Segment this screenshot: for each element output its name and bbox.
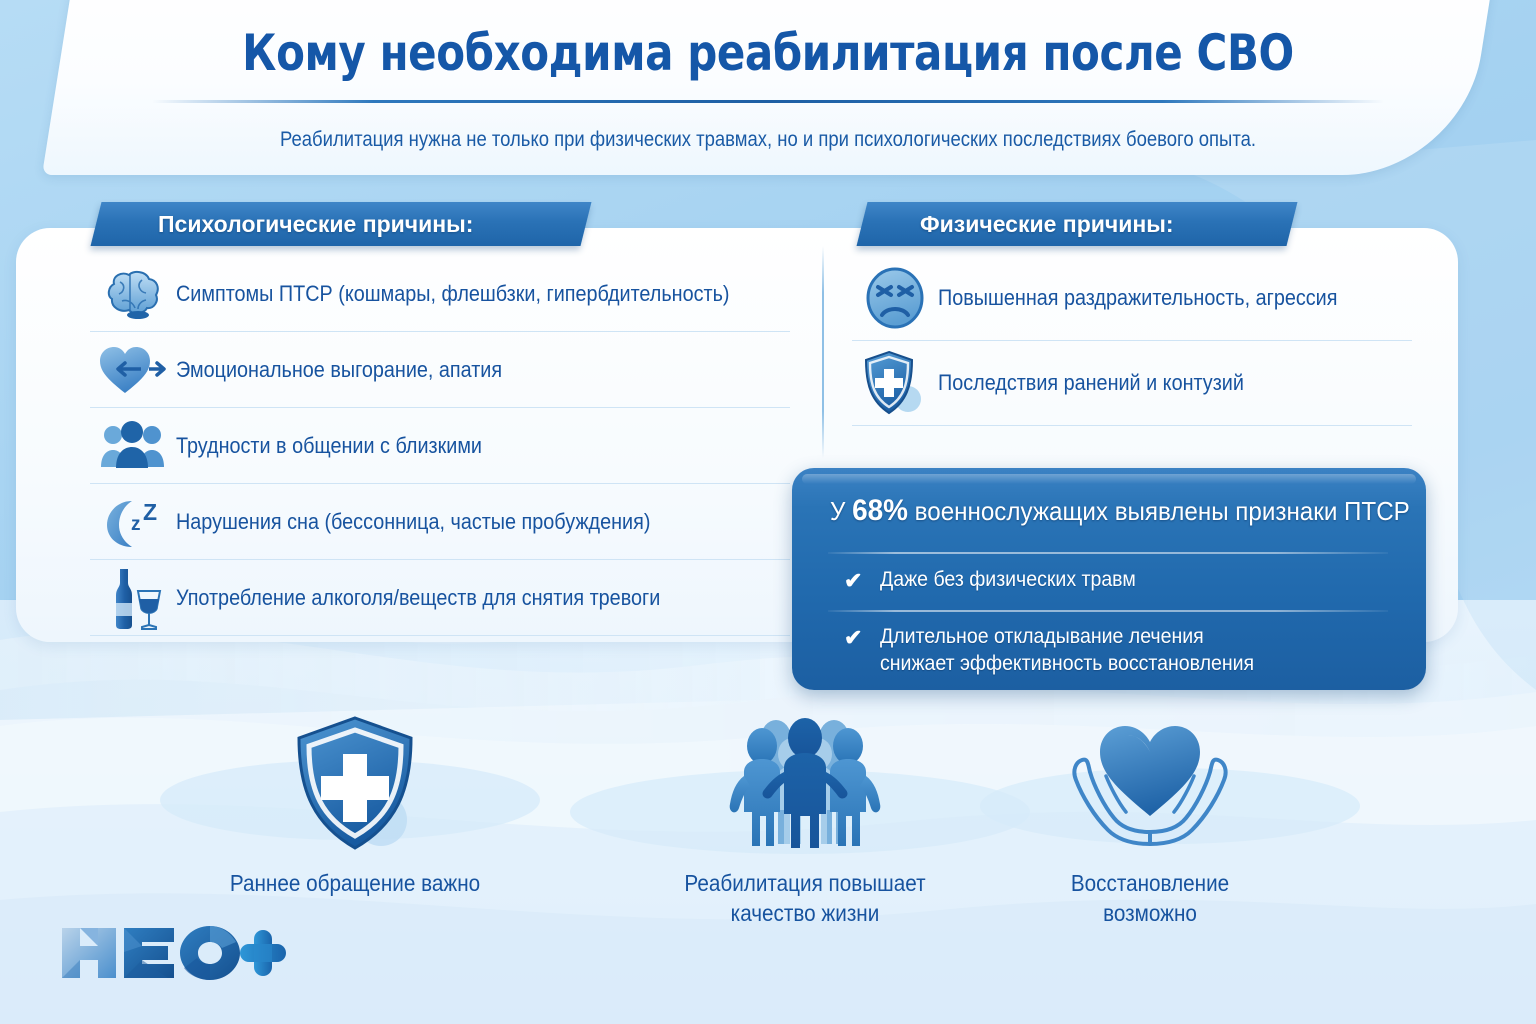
header-content: Кому необходима реабилитация после СВО Р… (0, 0, 1536, 180)
heart-burnout-icon (90, 338, 176, 402)
hands-heart-icon (985, 712, 1315, 852)
list-item: Эмоциональное выгорание, апатия (90, 332, 790, 408)
statistics-prefix: У (830, 496, 845, 526)
feature-quality-of-life: Реабилитация повышаеткачество жизни (640, 712, 970, 928)
brain-icon (90, 262, 176, 326)
bottle-glass-icon (90, 566, 176, 630)
list-item-label: Повышенная раздражительность, агрессия (938, 285, 1337, 311)
svg-text:z: z (131, 514, 141, 535)
list-item: Последствия ранений и контузий (852, 341, 1412, 426)
physical-causes-label: Физические причины: (920, 202, 1174, 246)
feature-caption: Реабилитация повышаеткачество жизни (657, 868, 954, 928)
people-team-icon (640, 712, 970, 852)
list-item-label: Последствия ранений и контузий (938, 370, 1244, 396)
psychological-causes-list: Симптомы ПТСР (кошмары, флешбзки, гиперб… (90, 256, 790, 636)
feature-caption: Раннее обращение важно (207, 868, 504, 898)
shield-cross-large-icon (190, 712, 520, 852)
neo-plus-logo (58, 918, 288, 984)
check-icon: ✔ (844, 625, 880, 651)
shield-cross-icon (852, 351, 938, 415)
statistics-bullet: ✔ Длительное откладывание леченияснижает… (844, 623, 1402, 677)
statistics-headline: У 68% военнослужащих выявлены признаки П… (830, 494, 1358, 528)
list-item: Повышенная раздражительность, агрессия (852, 256, 1412, 341)
statistics-divider-2 (828, 610, 1388, 612)
feature-early-help: Раннее обращение важно (190, 712, 520, 898)
statistics-value: 68% (852, 494, 908, 527)
statistics-bullet-label: Даже без физических травм (880, 566, 1136, 593)
statistics-divider-1 (828, 552, 1388, 554)
statistics-bullet-label: Длительное откладывание леченияснижает э… (880, 623, 1254, 677)
column-divider (822, 246, 824, 458)
moon-sleep-icon: z Z (90, 490, 176, 554)
psychological-causes-ribbon: Психологические причины: (91, 202, 592, 246)
list-item-label: Нарушения сна (бессонница, частые пробуж… (176, 509, 650, 535)
title-divider (152, 100, 1384, 103)
physical-causes-list: Повышенная раздражительность, агрессия П… (852, 256, 1412, 426)
physical-causes-ribbon: Физические причины: (857, 202, 1298, 246)
infographic-root: Кому необходима реабилитация после СВО Р… (0, 0, 1536, 1024)
check-icon: ✔ (844, 568, 880, 594)
feature-caption: Восстановлениевозможно (1002, 868, 1299, 928)
list-item: z Z Нарушения сна (бессонница, частые пр… (90, 484, 790, 560)
angry-face-icon (852, 266, 938, 330)
statistics-card: У 68% военнослужащих выявлены признаки П… (792, 468, 1426, 690)
list-item-label: Эмоциональное выгорание, апатия (176, 357, 502, 383)
svg-text:Z: Z (143, 499, 157, 525)
list-item-label: Трудности в общении с близкими (176, 433, 482, 459)
page-subtitle: Реабилитация нужна не только при физичес… (92, 128, 1444, 152)
statistics-bullet: ✔ Даже без физических травм (844, 566, 1402, 594)
page-title: Кому необходима реабилитация после СВО (123, 24, 1413, 82)
list-item-label: Симптомы ПТСР (кошмары, флешбзки, гиперб… (176, 281, 729, 307)
list-item: Симптомы ПТСР (кошмары, флешбзки, гиперб… (90, 256, 790, 332)
list-item-label: Употребление алкоголя/веществ для снятия… (176, 585, 660, 611)
feature-recovery-possible: Восстановлениевозможно (985, 712, 1315, 928)
list-item: Трудности в общении с близкими (90, 408, 790, 484)
list-item: Употребление алкоголя/веществ для снятия… (90, 560, 790, 636)
psychological-causes-label: Психологические причины: (158, 202, 473, 246)
people-group-icon (90, 414, 176, 478)
statistics-headline-rest: военнослужащих выявлены признаки ПТСР (915, 496, 1410, 526)
